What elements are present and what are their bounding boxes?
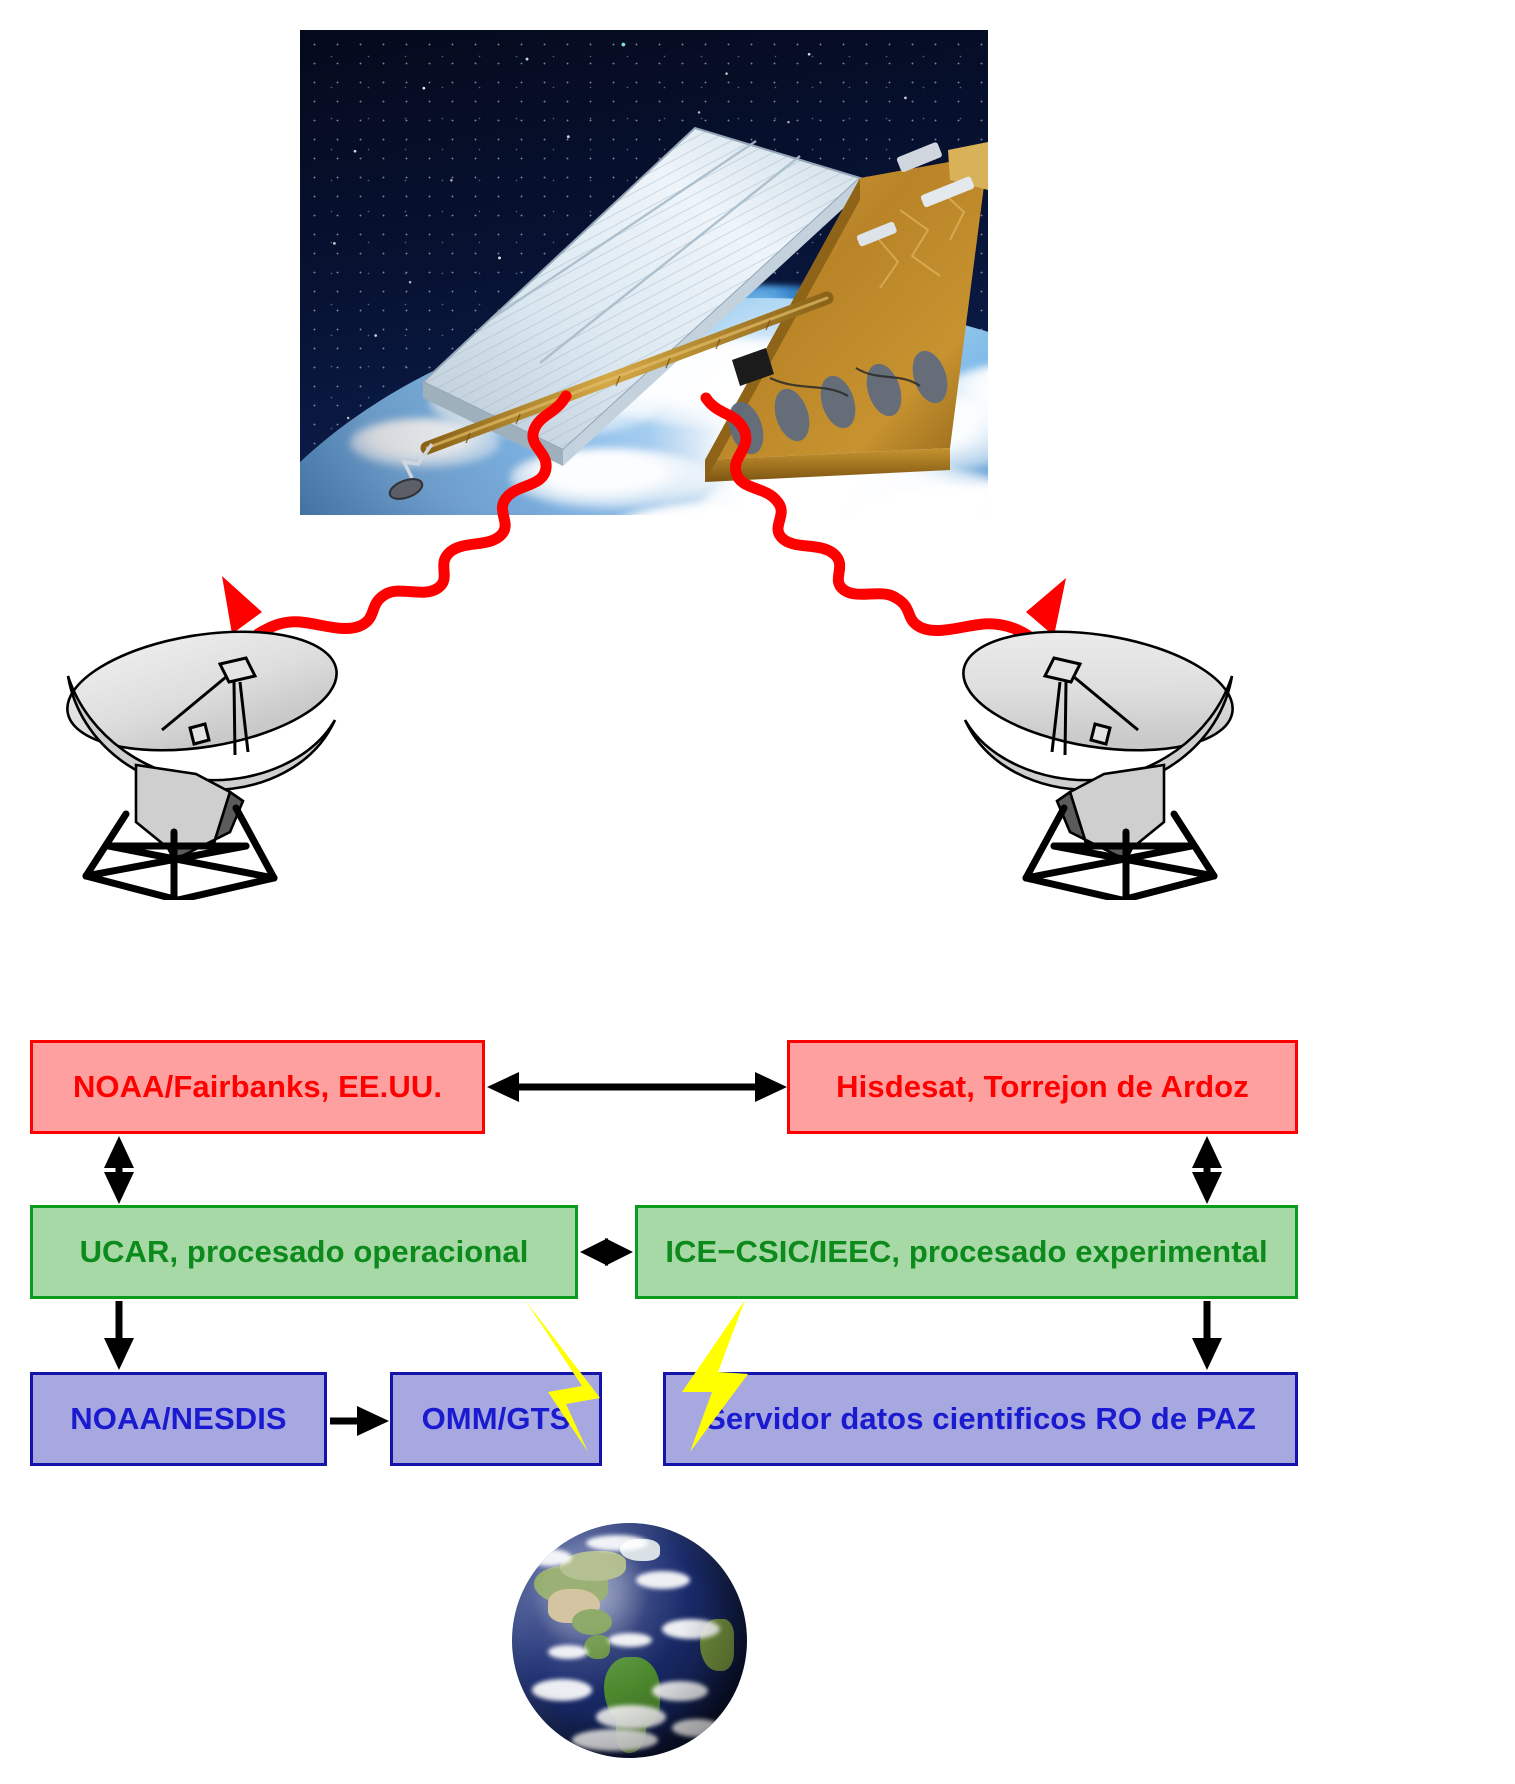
- broadcast-bolt-servidor: [682, 1300, 748, 1452]
- broadcast-bolts-group: [0, 0, 1515, 1784]
- diagram-canvas: NOAA/Fairbanks, EE.UU. Hisdesat, Torrejo…: [0, 0, 1515, 1784]
- broadcast-bolt-omm-gts: [525, 1300, 600, 1452]
